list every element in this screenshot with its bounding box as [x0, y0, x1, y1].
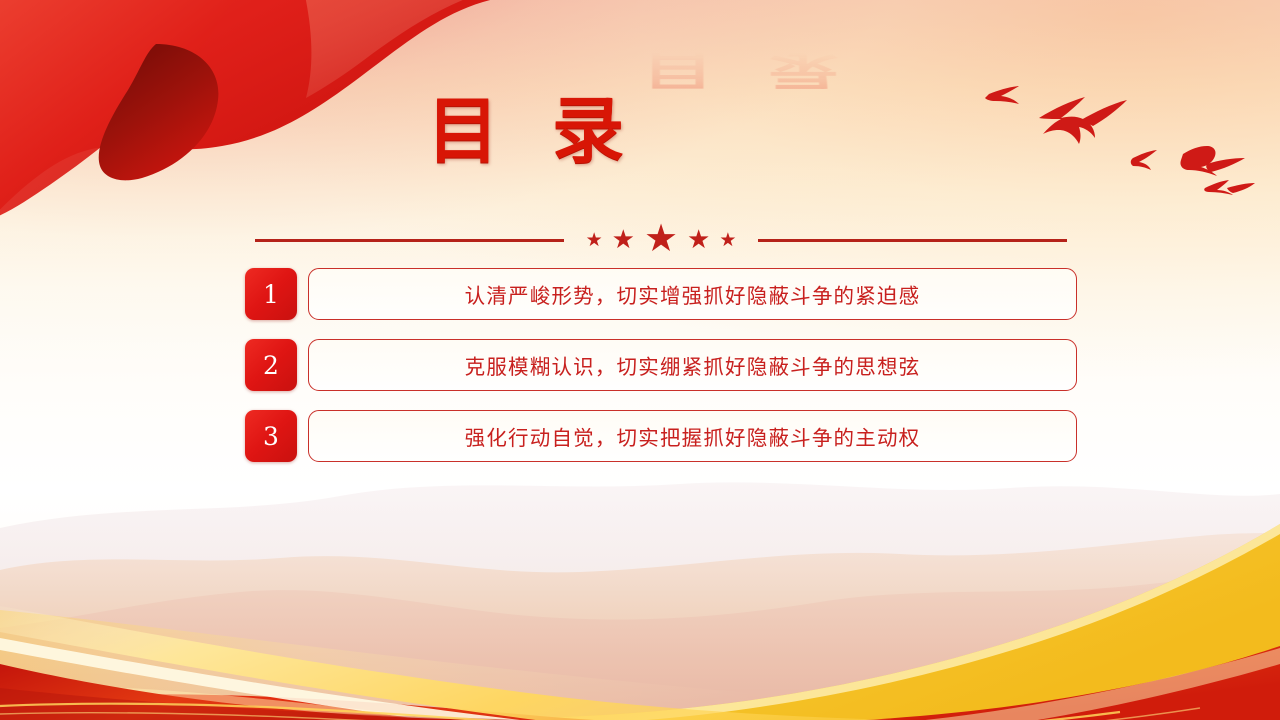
toc-label-pill-1[interactable]: 认清严峻形势，切实增强抓好隐蔽斗争的紧迫感	[308, 268, 1077, 320]
toc-item-1[interactable]: 1 认清严峻形势，切实增强抓好隐蔽斗争的紧迫感	[245, 268, 1077, 320]
divider-line-left	[255, 239, 564, 242]
divider-line-right	[758, 239, 1067, 242]
star-icon-2: ★	[612, 227, 635, 253]
mountain-range-icon	[0, 450, 1280, 720]
toc-item-label-3: 强化行动自觉，切实把握抓好隐蔽斗争的主动权	[465, 421, 921, 451]
toc-label-pill-2[interactable]: 克服模糊认识，切实绷紧抓好隐蔽斗争的思想弦	[308, 339, 1077, 391]
page-title-text: 目 录	[427, 92, 638, 170]
page-title: 目 录 目 录	[0, 92, 1280, 170]
five-star-divider: ★ ★ ★ ★ ★	[255, 222, 1067, 258]
toc-item-2[interactable]: 2 克服模糊认识，切实绷紧抓好隐蔽斗争的思想弦	[245, 339, 1077, 391]
star-icon-3: ★	[644, 220, 678, 258]
toc-number-badge-1: 1	[245, 268, 297, 320]
toc-item-label-1: 认清严峻形势，切实增强抓好隐蔽斗争的紧迫感	[465, 279, 921, 309]
page-title-reflection: 目 录	[642, 49, 853, 92]
star-icon-5: ★	[719, 231, 736, 250]
presentation-slide: 目 录 目 录 ★ ★ ★ ★ ★ 1 认清严峻形势，切实增强抓好隐蔽斗争的紧迫…	[0, 0, 1280, 720]
toc-number-badge-2: 2	[245, 339, 297, 391]
toc-item-label-2: 克服模糊认识，切实绷紧抓好隐蔽斗争的思想弦	[465, 350, 921, 380]
star-group: ★ ★ ★ ★ ★	[564, 222, 759, 258]
star-icon-1: ★	[586, 231, 603, 250]
star-icon-4: ★	[687, 227, 710, 253]
